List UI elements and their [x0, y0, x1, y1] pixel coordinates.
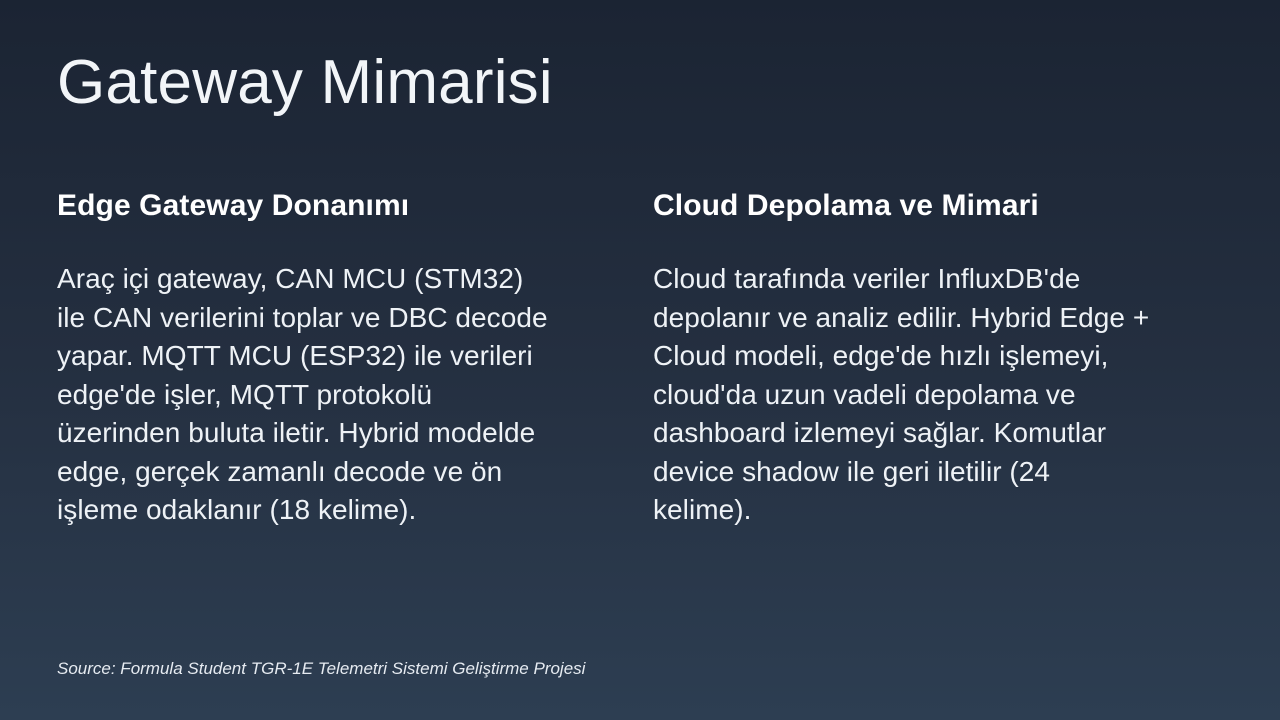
content-columns: Edge Gateway Donanımı Araç içi gateway, … — [57, 188, 1153, 530]
page-title: Gateway Mimarisi — [57, 52, 553, 114]
column-heading-cloud-storage: Cloud Depolama ve Mimari — [653, 188, 1153, 224]
column-edge-gateway: Edge Gateway Donanımı Araç içi gateway, … — [57, 188, 557, 530]
column-heading-edge-gateway: Edge Gateway Donanımı — [57, 188, 557, 224]
column-cloud-storage: Cloud Depolama ve Mimari Cloud tarafında… — [653, 188, 1153, 530]
column-body-cloud-storage: Cloud tarafında veriler InfluxDB'de depo… — [653, 260, 1153, 530]
presentation-slide: Gateway Mimarisi Edge Gateway Donanımı A… — [0, 0, 1280, 720]
column-body-edge-gateway: Araç içi gateway, CAN MCU (STM32) ile CA… — [57, 260, 557, 530]
source-citation: Source: Formula Student TGR-1E Telemetri… — [57, 658, 585, 679]
